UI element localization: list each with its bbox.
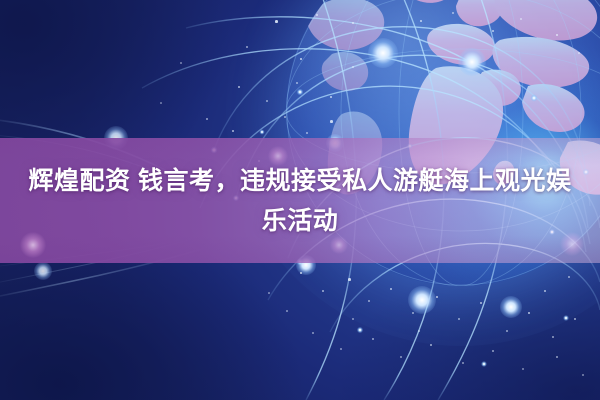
caption-line-2: 乐活动 (262, 201, 339, 241)
caption-text: 辉煌配资 钱言考，违规接受私人游艇海上观光娱 乐活动 (0, 138, 600, 263)
banner-image: 辉煌配资 钱言考，违规接受私人游艇海上观光娱 乐活动 (0, 0, 600, 400)
caption-line-1: 辉煌配资 钱言考，违规接受私人游艇海上观光娱 (29, 161, 572, 201)
